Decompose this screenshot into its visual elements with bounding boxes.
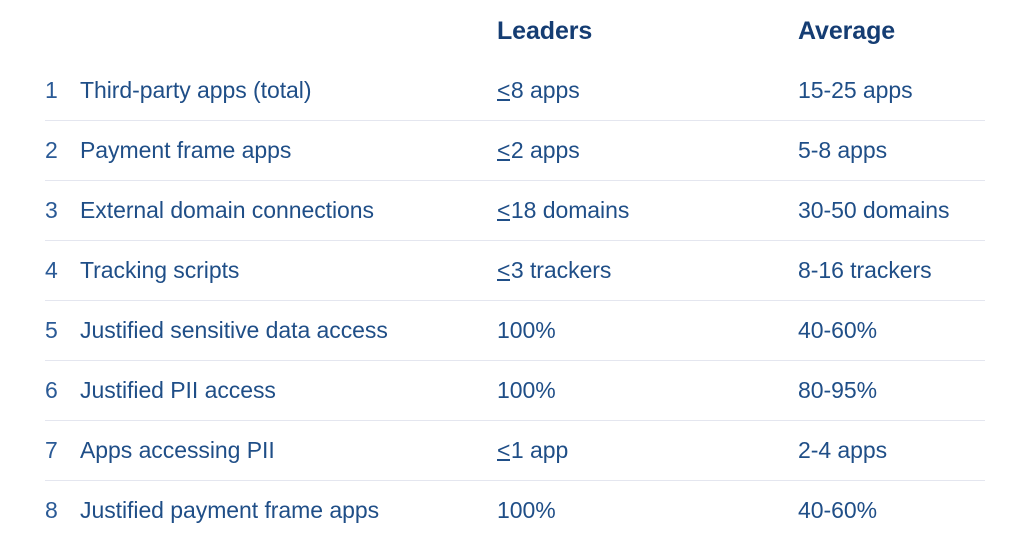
row-leaders-number: 100% [497, 377, 556, 403]
row-average-value: 40-60% [798, 499, 1024, 522]
table-row: 4 Tracking scripts <3 trackers 8-16 trac… [0, 240, 1024, 300]
row-number: 2 [0, 139, 80, 162]
table-row: 6 Justified PII access 100% 80-95% [0, 360, 1024, 420]
row-leaders-number: 18 domains [511, 197, 629, 223]
table-body: 1 Third-party apps (total) <8 apps 15-25… [0, 60, 1024, 540]
row-average-value: 40-60% [798, 319, 1024, 342]
row-average-value: 30-50 domains [798, 199, 1024, 222]
row-metric-label: Justified sensitive data access [80, 319, 497, 342]
row-average-value: 15-25 apps [798, 79, 1024, 102]
row-leaders-number: 3 trackers [511, 257, 611, 283]
row-leaders-number: 1 app [511, 437, 568, 463]
row-leaders-value: 100% [497, 379, 798, 402]
table-row: 3 External domain connections <18 domain… [0, 180, 1024, 240]
row-metric-label: Apps accessing PII [80, 439, 497, 462]
row-number: 5 [0, 319, 80, 342]
row-metric-label: Third-party apps (total) [80, 79, 497, 102]
row-leaders-value: 100% [497, 319, 798, 342]
row-metric-label: Payment frame apps [80, 139, 497, 162]
row-average-value: 5-8 apps [798, 139, 1024, 162]
row-leaders-value: <2 apps [497, 139, 798, 162]
row-number: 7 [0, 439, 80, 462]
row-leaders-value: <18 domains [497, 199, 798, 222]
table-row: 7 Apps accessing PII <1 app 2-4 apps [0, 420, 1024, 480]
row-leaders-number: 100% [497, 317, 556, 343]
table-row: 5 Justified sensitive data access 100% 4… [0, 300, 1024, 360]
column-header-average: Average [798, 19, 1024, 44]
comparison-table: Leaders Average 1 Third-party apps (tota… [0, 0, 1024, 554]
row-number: 4 [0, 259, 80, 282]
table-row: 2 Payment frame apps <2 apps 5-8 apps [0, 120, 1024, 180]
row-leaders-number: 8 apps [511, 77, 580, 103]
row-average-value: 8-16 trackers [798, 259, 1024, 282]
row-metric-label: Justified payment frame apps [80, 499, 497, 522]
row-number: 6 [0, 379, 80, 402]
table-row: 8 Justified payment frame apps 100% 40-6… [0, 480, 1024, 540]
column-header-leaders: Leaders [497, 19, 798, 44]
row-leaders-number: 100% [497, 497, 556, 523]
row-leaders-value: 100% [497, 499, 798, 522]
less-than-or-equal-icon: < [497, 199, 511, 222]
row-leaders-value: <8 apps [497, 79, 798, 102]
less-than-or-equal-icon: < [497, 439, 511, 462]
row-number: 3 [0, 199, 80, 222]
table-header-row: Leaders Average [0, 0, 1024, 60]
row-metric-label: Tracking scripts [80, 259, 497, 282]
less-than-or-equal-icon: < [497, 139, 511, 162]
row-leaders-value: <3 trackers [497, 259, 798, 282]
row-metric-label: Justified PII access [80, 379, 497, 402]
row-leaders-number: 2 apps [511, 137, 580, 163]
row-number: 8 [0, 499, 80, 522]
row-number: 1 [0, 79, 80, 102]
row-metric-label: External domain connections [80, 199, 497, 222]
less-than-or-equal-icon: < [497, 79, 511, 102]
table-row: 1 Third-party apps (total) <8 apps 15-25… [0, 60, 1024, 120]
row-average-value: 2-4 apps [798, 439, 1024, 462]
less-than-or-equal-icon: < [497, 259, 511, 282]
row-leaders-value: <1 app [497, 439, 798, 462]
row-average-value: 80-95% [798, 379, 1024, 402]
